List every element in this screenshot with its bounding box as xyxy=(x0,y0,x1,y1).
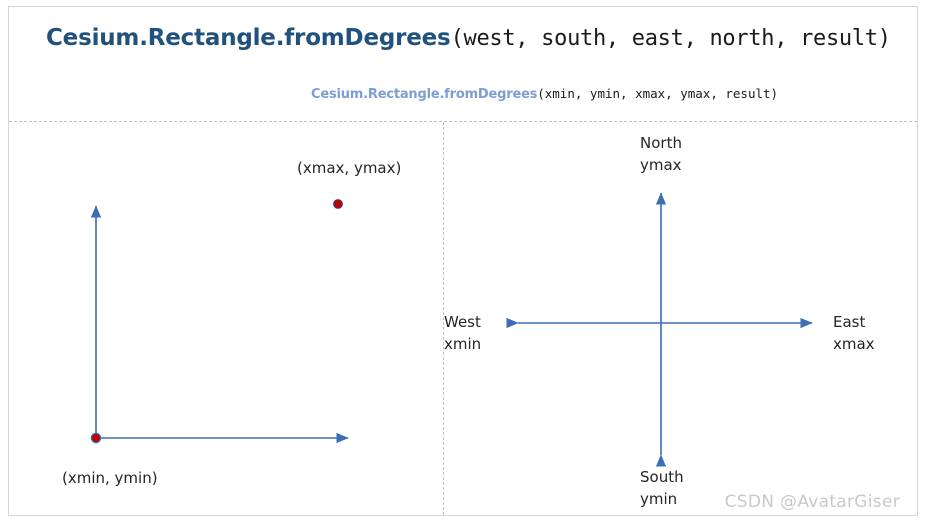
label-north-direction: North xyxy=(640,133,682,154)
label-south-variable: ymin xyxy=(640,489,677,510)
label-west-direction: West xyxy=(444,312,497,333)
page-root: Cesium.Rectangle.fromDegrees(west, south… xyxy=(0,0,926,524)
label-east-direction: East xyxy=(833,312,865,333)
left-diagram-panel: (xmax, ymax) (xmin, ymin) xyxy=(9,122,443,515)
label-south-direction: South xyxy=(640,467,684,488)
cartesian-corner-svg xyxy=(9,122,443,515)
label-east-variable: xmax xyxy=(833,334,875,355)
label-west-variable: xmin xyxy=(444,334,497,355)
page-subtitle: Cesium.Rectangle.fromDegrees(xmin, ymin,… xyxy=(311,84,778,102)
page-title-function-name: Cesium.Rectangle.fromDegrees xyxy=(46,25,451,51)
label-north-variable: ymax xyxy=(640,155,682,176)
point-min-marker xyxy=(91,433,100,442)
watermark-text: CSDN @AvatarGiser xyxy=(725,492,900,512)
label-point-max: (xmax, ymax) xyxy=(297,158,401,179)
page-title-arguments: (west, south, east, north, result) xyxy=(451,26,891,51)
page-subtitle-function-name: Cesium.Rectangle.fromDegrees xyxy=(311,87,537,102)
right-diagram-panel: North ymax South ymin West xmin East xma… xyxy=(444,122,917,515)
point-max-marker xyxy=(334,200,343,209)
page-title: Cesium.Rectangle.fromDegrees(west, south… xyxy=(46,26,891,51)
page-subtitle-arguments: (xmin, ymin, xmax, ymax, result) xyxy=(537,86,778,101)
label-point-min: (xmin, ymin) xyxy=(62,468,158,489)
